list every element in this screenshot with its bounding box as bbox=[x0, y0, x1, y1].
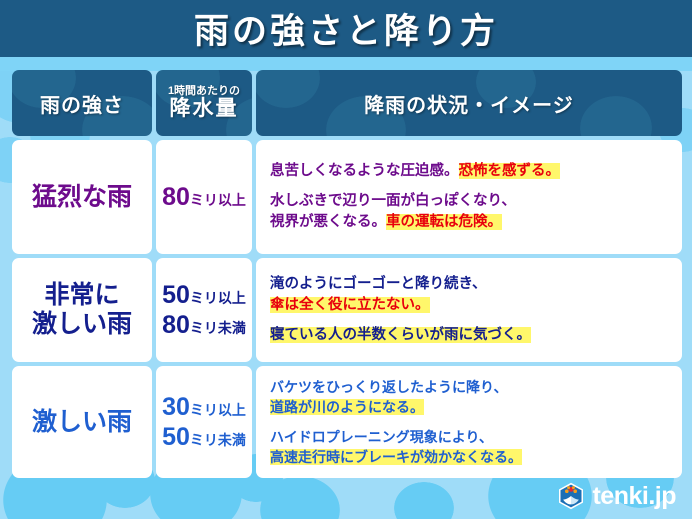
background-light-band bbox=[0, 57, 692, 71]
table-row: 猛烈な雨80ミリ以上息苦しくなるような圧迫感。恐怖を感ずる。水しぶきで辺り一面が… bbox=[12, 140, 682, 254]
rainfall-number: 50 bbox=[162, 423, 190, 451]
highlighted-text: 寝ている人の半数くらいが雨に気づく。 bbox=[270, 327, 531, 343]
header-label-rainfall-main: 降水量 bbox=[168, 98, 240, 120]
table-body: 猛烈な雨80ミリ以上息苦しくなるような圧迫感。恐怖を感ずる。水しぶきで辺り一面が… bbox=[12, 140, 682, 478]
page-title: 雨の強さと降り方 bbox=[0, 3, 692, 54]
rainfall-amount-value: 30ミリ以上50ミリ未満 bbox=[162, 392, 246, 452]
paragraph-gap bbox=[270, 182, 560, 191]
description-line: 息苦しくなるような圧迫感。恐怖を感ずる。 bbox=[270, 161, 560, 182]
description-line: 視界が悪くなる。車の運転は危険。 bbox=[270, 212, 560, 233]
header-cell-description: 降雨の状況・イメージ bbox=[256, 70, 682, 136]
plain-text: バケツをひっくり返したように降り、 bbox=[270, 379, 507, 395]
emphasis-text: 恐怖を感ずる。 bbox=[459, 163, 561, 179]
highlighted-text: 高速走行時にブレーキが効かなくなる。 bbox=[270, 449, 522, 465]
rainfall-amount-value: 80ミリ以上 bbox=[162, 182, 246, 212]
header-label-rainfall: 1時間あたりの 降水量 bbox=[168, 86, 240, 120]
header-label-description: 降雨の状況・イメージ bbox=[364, 89, 574, 118]
description-paragraph: ハイドロプレーニング現象により、高速走行時にブレーキが効かなくなる。 bbox=[270, 427, 522, 468]
cell-description: バケツをひっくり返したように降り、道路が川のようになる。ハイドロプレーニング現象… bbox=[256, 366, 682, 478]
description-line: 傘は全く役に立たない。 bbox=[270, 295, 531, 316]
description-text: 滝のようにゴーゴーと降り続き、傘は全く役に立たない。寝ている人の半数くらいが雨に… bbox=[270, 274, 531, 346]
header-cell-intensity: 雨の強さ bbox=[12, 70, 152, 136]
cell-intensity-level: 激しい雨 bbox=[12, 366, 152, 478]
description-paragraph: 息苦しくなるような圧迫感。恐怖を感ずる。 bbox=[270, 161, 560, 182]
rainfall-unit: ミリ未満 bbox=[190, 432, 246, 448]
emphasis-text: 傘は全く役に立たない。 bbox=[270, 297, 430, 313]
rainfall-number: 80 bbox=[162, 183, 190, 211]
highlighted-text: 道路が川のようになる。 bbox=[270, 399, 424, 415]
rainfall-number: 50 bbox=[162, 281, 190, 309]
rainfall-number: 80 bbox=[162, 311, 190, 339]
tenki-cube-icon bbox=[556, 481, 586, 511]
plain-text: 視界が悪くなる。 bbox=[270, 214, 386, 230]
description-line: 水しぶきで辺り一面が白っぽくなり、 bbox=[270, 191, 560, 212]
description-line: 道路が川のようになる。 bbox=[270, 397, 522, 417]
table-row: 非常に激しい雨50ミリ以上80ミリ未満滝のようにゴーゴーと降り続き、傘は全く役に… bbox=[12, 258, 682, 362]
rainfall-unit: ミリ未満 bbox=[190, 320, 246, 336]
description-paragraph: 寝ている人の半数くらいが雨に気づく。 bbox=[270, 325, 531, 346]
description-line: 滝のようにゴーゴーと降り続き、 bbox=[270, 274, 531, 295]
site-logo: tenki.jp bbox=[556, 481, 676, 511]
header-cell-rainfall: 1時間あたりの 降水量 bbox=[156, 70, 252, 136]
description-text: 息苦しくなるような圧迫感。恐怖を感ずる。水しぶきで辺り一面が白っぽくなり、視界が… bbox=[270, 161, 560, 233]
rainfall-unit: ミリ以上 bbox=[190, 192, 246, 208]
intensity-level-label: 非常に激しい雨 bbox=[32, 281, 132, 339]
logo-text: tenki.jp bbox=[592, 482, 676, 511]
table-row: 激しい雨30ミリ以上50ミリ未満バケツをひっくり返したように降り、道路が川のよう… bbox=[12, 366, 682, 478]
description-line: ハイドロプレーニング現象により、 bbox=[270, 427, 522, 447]
cell-rainfall-amount: 50ミリ以上80ミリ未満 bbox=[156, 258, 252, 362]
description-line: バケツをひっくり返したように降り、 bbox=[270, 377, 522, 397]
plain-text: 息苦しくなるような圧迫感。 bbox=[270, 163, 459, 179]
cell-intensity-level: 猛烈な雨 bbox=[12, 140, 152, 254]
emphasis-text: 車の運転は危険。 bbox=[386, 214, 502, 230]
rainfall-number: 30 bbox=[162, 393, 190, 421]
paragraph-gap bbox=[270, 418, 522, 427]
description-text: バケツをひっくり返したように降り、道路が川のようになる。ハイドロプレーニング現象… bbox=[270, 377, 522, 467]
rain-intensity-table: 雨の強さ 1時間あたりの 降水量 降雨の状況・イメージ 猛烈な雨80ミリ以上息苦… bbox=[12, 70, 682, 482]
cell-description: 滝のようにゴーゴーと降り続き、傘は全く役に立たない。寝ている人の半数くらいが雨に… bbox=[256, 258, 682, 362]
description-paragraph: 水しぶきで辺り一面が白っぽくなり、視界が悪くなる。車の運転は危険。 bbox=[270, 191, 560, 233]
cell-description: 息苦しくなるような圧迫感。恐怖を感ずる。水しぶきで辺り一面が白っぽくなり、視界が… bbox=[256, 140, 682, 254]
cell-rainfall-amount: 80ミリ以上 bbox=[156, 140, 252, 254]
intensity-level-label: 激しい雨 bbox=[32, 408, 132, 437]
intensity-level-label: 猛烈な雨 bbox=[32, 183, 132, 212]
rainfall-unit: ミリ以上 bbox=[190, 402, 246, 418]
description-paragraph: バケツをひっくり返したように降り、道路が川のようになる。 bbox=[270, 377, 522, 418]
paragraph-gap bbox=[270, 316, 531, 325]
plain-text: ハイドロプレーニング現象により、 bbox=[270, 429, 493, 445]
plain-text: 水しぶきで辺り一面が白っぽくなり、 bbox=[270, 193, 516, 209]
rainfall-unit: ミリ以上 bbox=[190, 290, 246, 306]
description-line: 寝ている人の半数くらいが雨に気づく。 bbox=[270, 325, 531, 346]
description-paragraph: 滝のようにゴーゴーと降り続き、傘は全く役に立たない。 bbox=[270, 274, 531, 316]
plain-text: 滝のようにゴーゴーと降り続き、 bbox=[270, 276, 486, 292]
header-label-intensity: 雨の強さ bbox=[40, 89, 124, 118]
table-header-row: 雨の強さ 1時間あたりの 降水量 降雨の状況・イメージ bbox=[12, 70, 682, 136]
title-banner: 雨の強さと降り方 bbox=[0, 0, 692, 57]
rainfall-amount-value: 50ミリ以上80ミリ未満 bbox=[162, 280, 246, 340]
description-line: 高速走行時にブレーキが効かなくなる。 bbox=[270, 447, 522, 467]
cell-intensity-level: 非常に激しい雨 bbox=[12, 258, 152, 362]
cell-rainfall-amount: 30ミリ以上50ミリ未満 bbox=[156, 366, 252, 478]
